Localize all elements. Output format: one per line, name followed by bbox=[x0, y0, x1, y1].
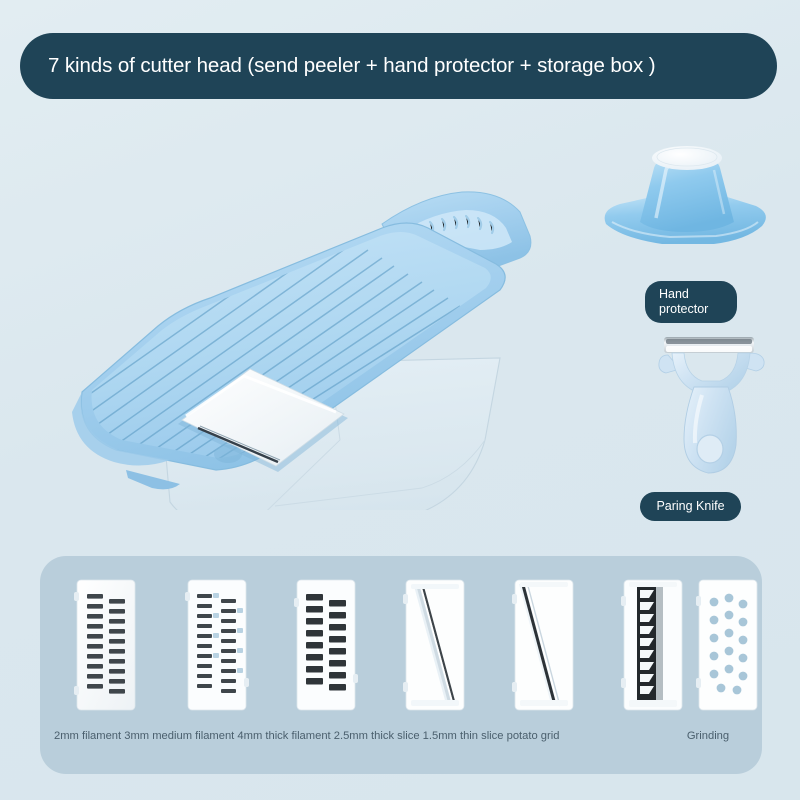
blade-card-potato-grid[interactable] bbox=[620, 578, 686, 712]
blade-card-2mm-filament[interactable] bbox=[73, 578, 139, 712]
hand-protector-badge-line2: protector bbox=[659, 302, 708, 316]
blade-caption-run: 2mm filament 3mm medium filament 4mm thi… bbox=[54, 730, 559, 742]
product-image-canvas: 7 kinds of cutter head (send peeler + ha… bbox=[0, 0, 800, 800]
blade-caption-grinding: Grinding bbox=[664, 730, 752, 742]
blade-card-2.5mm-thick-slice[interactable] bbox=[402, 578, 468, 712]
hand-protector-badge: Hand protector bbox=[645, 281, 737, 323]
blade-card-1.5mm-thin-slice[interactable] bbox=[511, 578, 577, 712]
peeler-hang-hole bbox=[697, 435, 723, 463]
blade-card-grinding[interactable] bbox=[695, 578, 761, 712]
hand-protector-badge-line1: Hand bbox=[659, 287, 689, 301]
promo-banner: 7 kinds of cutter head (send peeler + ha… bbox=[20, 33, 777, 99]
blade-attachments-panel: 2mm filament 3mm medium filament 4mm thi… bbox=[40, 556, 762, 774]
blade-card-3mm-medium-filament[interactable] bbox=[184, 578, 250, 712]
blade-card-4mm-thick-filament[interactable] bbox=[293, 578, 359, 712]
paring-knife-badge: Paring Knife bbox=[640, 492, 741, 521]
mandoline-slicer-image bbox=[30, 140, 550, 510]
peeler-yoke bbox=[672, 353, 750, 391]
paring-knife-image bbox=[650, 325, 780, 480]
hand-protector-image bbox=[596, 138, 776, 260]
blade-captions: 2mm filament 3mm medium filament 4mm thi… bbox=[54, 730, 748, 750]
promo-banner-text: 7 kinds of cutter head (send peeler + ha… bbox=[48, 54, 655, 78]
